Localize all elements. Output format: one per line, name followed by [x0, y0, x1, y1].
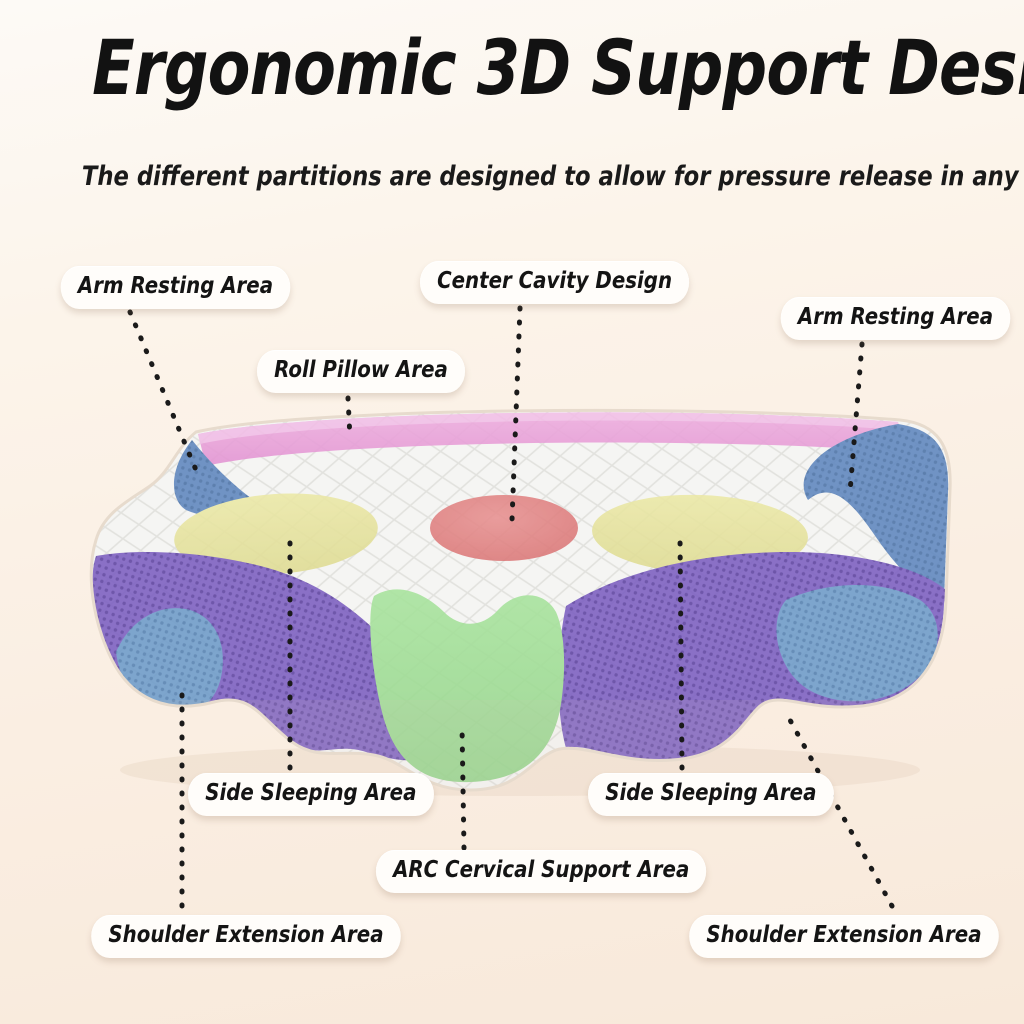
callout-shoulder-extension-area-left[interactable]: Shoulder Extension Area	[91, 915, 401, 958]
callout-arm-resting-area-right[interactable]: Arm Resting Area	[781, 297, 1011, 340]
callout-arc-cervical-support-area[interactable]: ARC Cervical Support Area	[376, 850, 707, 893]
callout-arm-resting-area-left[interactable]: Arm Resting Area	[61, 266, 291, 309]
callout-side-sleeping-area-left[interactable]: Side Sleeping Area	[188, 773, 434, 816]
callout-roll-pillow-area[interactable]: Roll Pillow Area	[257, 350, 465, 393]
callout-side-sleeping-area-right[interactable]: Side Sleeping Area	[588, 773, 834, 816]
callout-center-cavity-design[interactable]: Center Cavity Design	[420, 261, 689, 304]
callout-shoulder-extension-area-right[interactable]: Shoulder Extension Area	[689, 915, 999, 958]
infographic-stage: Ergonomic 3D Support Design The differen…	[0, 0, 1024, 1024]
